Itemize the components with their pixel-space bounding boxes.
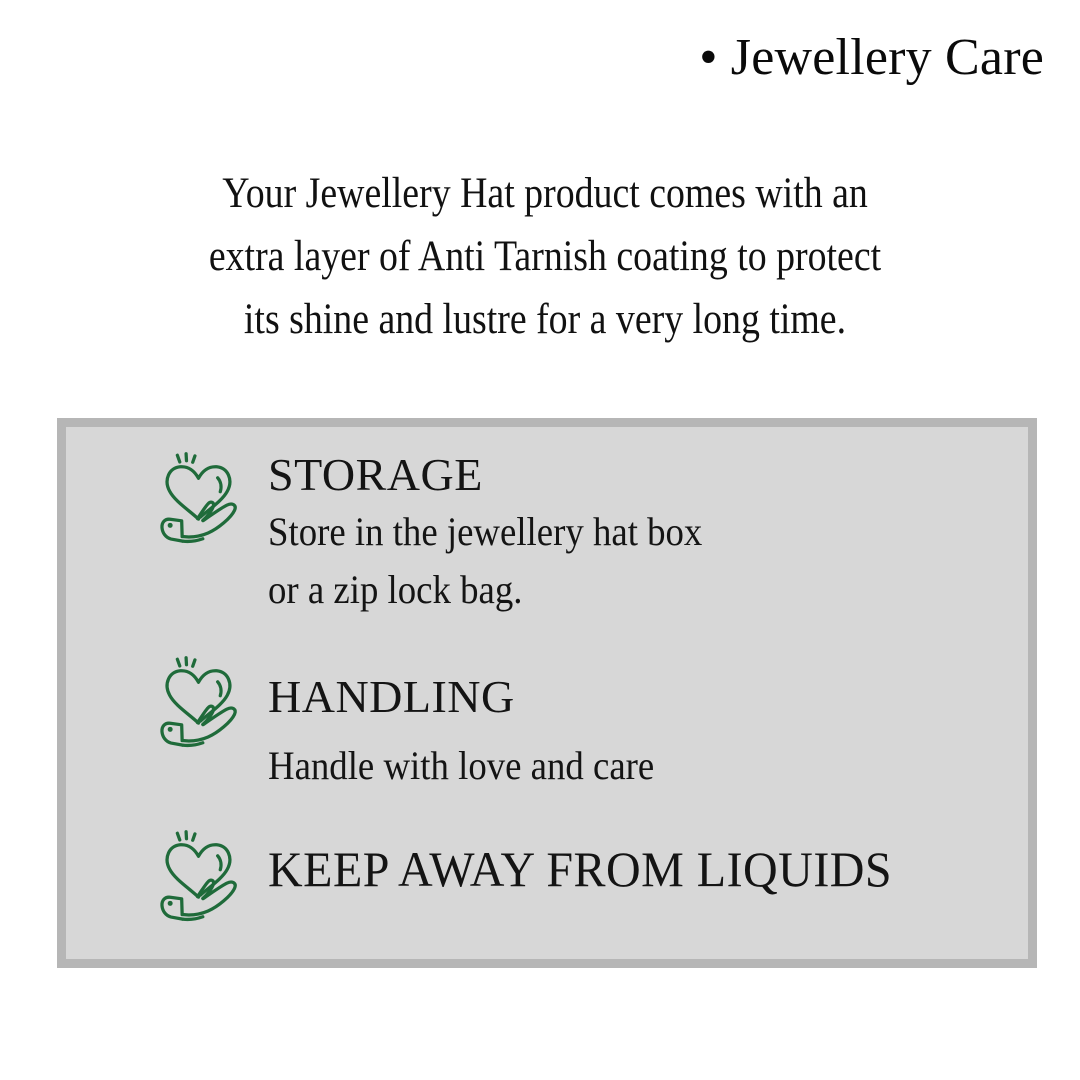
care-sub-handling: Handle with love and care (268, 737, 654, 795)
intro-line-3: its shine and lustre for a very long tim… (118, 288, 972, 351)
care-row-liquids: KEEP AWAY FROM LIQUIDS (150, 825, 918, 923)
care-sub-line: or a zip lock bag. (268, 561, 702, 619)
heart-in-hand-icon (150, 449, 246, 545)
care-heading-handling: HANDLING (268, 671, 688, 723)
care-instructions-card: STORAGE Store in the jewellery hat box o… (57, 418, 1037, 968)
care-sub-storage: Store in the jewellery hat box or a zip … (268, 503, 702, 619)
care-row-text: HANDLING Handle with love and care (268, 651, 688, 795)
care-sub-line: Store in the jewellery hat box (268, 503, 702, 561)
heart-in-hand-icon (150, 653, 246, 749)
care-sub-line: Handle with love and care (268, 737, 654, 795)
intro-line-1: Your Jewellery Hat product comes with an (118, 162, 972, 225)
intro-line-2: extra layer of Anti Tarnish coating to p… (118, 225, 972, 288)
care-rows: STORAGE Store in the jewellery hat box o… (66, 427, 1028, 959)
page-title: • Jewellery Care (0, 28, 1044, 88)
care-heading-liquids: KEEP AWAY FROM LIQUIDS (268, 843, 892, 895)
care-row-text: KEEP AWAY FROM LIQUIDS (268, 825, 918, 895)
care-row-handling: HANDLING Handle with love and care (150, 651, 688, 795)
care-row-text: STORAGE Store in the jewellery hat box o… (268, 447, 740, 619)
care-row-storage: STORAGE Store in the jewellery hat box o… (150, 447, 740, 619)
heart-in-hand-icon (150, 827, 246, 923)
care-heading-storage: STORAGE (268, 449, 740, 501)
jewellery-care-page: • Jewellery Care Your Jewellery Hat prod… (0, 0, 1080, 1080)
intro-paragraph: Your Jewellery Hat product comes with an… (118, 162, 972, 351)
